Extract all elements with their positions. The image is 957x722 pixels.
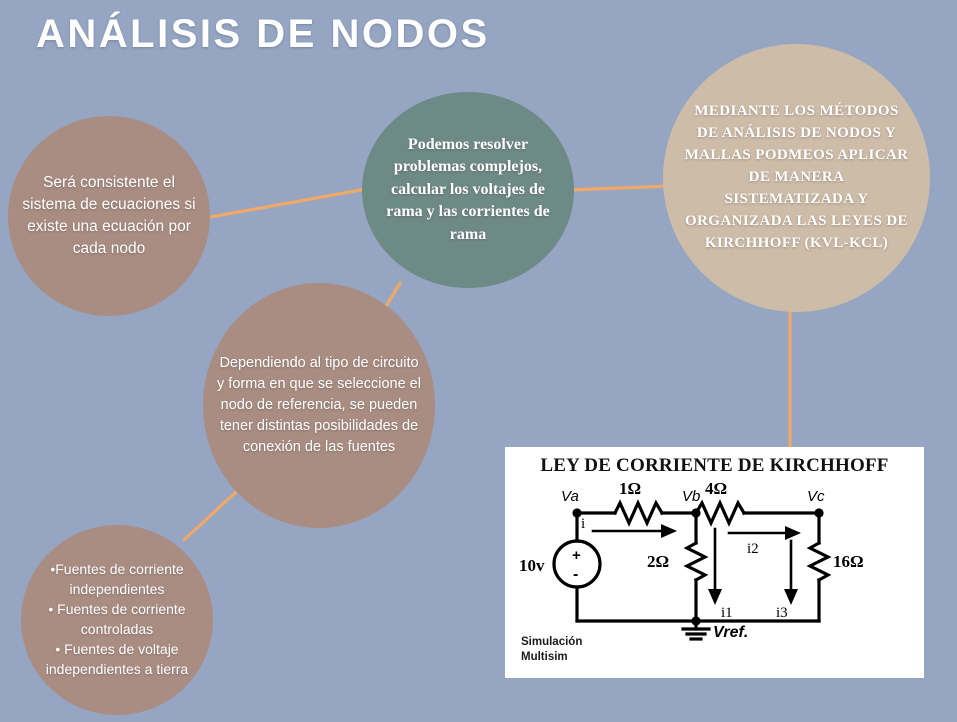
label-current-i2: i2 (747, 541, 759, 557)
label-source-minus: - (573, 566, 578, 583)
arrowhead-i (661, 524, 677, 538)
connector-consistencia-resolver (205, 188, 372, 218)
node-dot-ref (691, 616, 700, 625)
label-source-plus: + (572, 547, 581, 564)
bubble-fuentes[interactable]: •Fuentes de corriente independientes • F… (21, 525, 213, 715)
label-current-i: i (581, 516, 585, 532)
bubble-metodos[interactable]: MEDIANTE LOS MÉTODOS DE ANÁLISIS DE NODO… (663, 44, 930, 312)
label-node-c: Vc (807, 488, 825, 505)
arrowhead-i2 (785, 526, 801, 540)
bubble-metodos-text: MEDIANTE LOS MÉTODOS DE ANÁLISIS DE NODO… (684, 101, 908, 254)
circuit-schematic: Va Vb Vc 1Ω 4Ω 2Ω 16Ω 10v + - i i2 i1 i3… (519, 481, 911, 641)
label-node-a: Va (561, 488, 579, 505)
circuit-title: LEY DE CORRIENTE DE KIRCHHOFF (505, 455, 924, 477)
bubble-dependiendo-text: Dependiendo al tipo de circuito y forma … (215, 353, 424, 458)
list-item: • Fuentes de corriente controladas (25, 600, 209, 640)
label-resistor-16ohm: 16Ω (833, 552, 864, 571)
list-item: •Fuentes de corriente independientes (25, 560, 209, 600)
list-item: • Fuentes de voltaje independientes a ti… (25, 640, 209, 680)
simulation-caption: Simulación Multisim (521, 635, 582, 664)
label-resistor-2ohm: 2Ω (647, 552, 669, 571)
arrowhead-i3 (784, 589, 798, 605)
arrowhead-i1 (708, 589, 722, 605)
label-resistor-4ohm: 4Ω (705, 481, 727, 498)
bubble-dependiendo[interactable]: Dependiendo al tipo de circuito y forma … (203, 283, 435, 528)
label-voltage-source: 10v (519, 556, 545, 575)
simulation-caption-line2: Multisim (521, 650, 582, 664)
bubble-consistencia-text: Será consistente el sistema de ecuacione… (20, 172, 198, 260)
bubble-resolver-text: Podemos resolver problemas complejos, ca… (375, 134, 562, 246)
bubble-resolver[interactable]: Podemos resolver problemas complejos, ca… (362, 92, 574, 288)
label-ground-vref: Vref. (713, 624, 748, 641)
label-resistor-1ohm: 1Ω (619, 481, 641, 498)
node-dot-b (691, 508, 700, 517)
bubble-consistencia[interactable]: Será consistente el sistema de ecuacione… (8, 116, 210, 316)
bubble-fuentes-list: •Fuentes de corriente independientes • F… (25, 560, 209, 679)
connector-resolver-metodos (568, 186, 672, 190)
node-dot-c (814, 508, 823, 517)
circuit-diagram-panel[interactable]: LEY DE CORRIENTE DE KIRCHHOFF (505, 447, 924, 678)
label-current-i3: i3 (776, 605, 788, 621)
connector-dependiendo-fuentes (184, 492, 236, 540)
label-node-b: Vb (682, 488, 700, 505)
label-current-i1: i1 (721, 605, 733, 621)
page-title: ANÁLISIS DE NODOS (36, 12, 490, 57)
slide-canvas: ANÁLISIS DE NODOS Será consistente el si… (0, 0, 957, 722)
simulation-caption-line1: Simulación (521, 635, 582, 649)
